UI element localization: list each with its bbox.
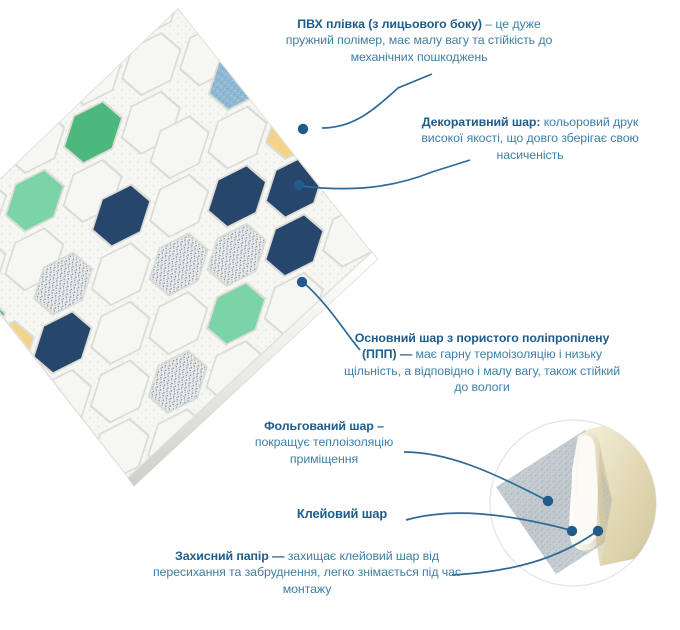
callout-glue-title: Клейовий шар xyxy=(297,506,387,521)
callout-glue-layer: Клейовий шар xyxy=(262,506,422,523)
leader-dot-ppp xyxy=(297,277,307,287)
leader-dot-decorative xyxy=(294,180,304,190)
panel-face xyxy=(0,0,507,630)
callout-decorative-title: Декоративний шар: xyxy=(422,115,541,129)
panel-illustration xyxy=(0,0,680,630)
diagram-canvas: ПВХ плівка (з лицьового боку) – це дуже … xyxy=(0,0,680,630)
callout-foil-layer: Фольгований шар – покращує теплоізоляцію… xyxy=(236,418,412,467)
callout-protective-paper: Захисний папір — захищає клейовий шар ві… xyxy=(142,548,472,597)
leader-dot-pvc xyxy=(298,124,308,134)
callout-foil-body: покращує теплоізоляцію приміщення xyxy=(255,435,393,465)
callout-foil-title: Фольгований шар – xyxy=(264,419,384,433)
leader-dot-glue xyxy=(567,526,577,536)
callout-ppp-core: Основний шар з пористого поліпропілену (… xyxy=(338,330,626,396)
corner-closeup-inset xyxy=(490,420,661,586)
callout-decorative-layer: Декоративний шар: кольоровий друк високо… xyxy=(412,114,648,163)
leader-dot-paper xyxy=(593,526,603,536)
callout-pvc-film: ПВХ плівка (з лицьового боку) – це дуже … xyxy=(285,16,553,65)
leader-dot-foil xyxy=(543,496,553,506)
callout-pvc-title: ПВХ плівка (з лицьового боку) xyxy=(297,17,482,31)
callout-paper-title: Захисний папір — xyxy=(175,549,284,563)
